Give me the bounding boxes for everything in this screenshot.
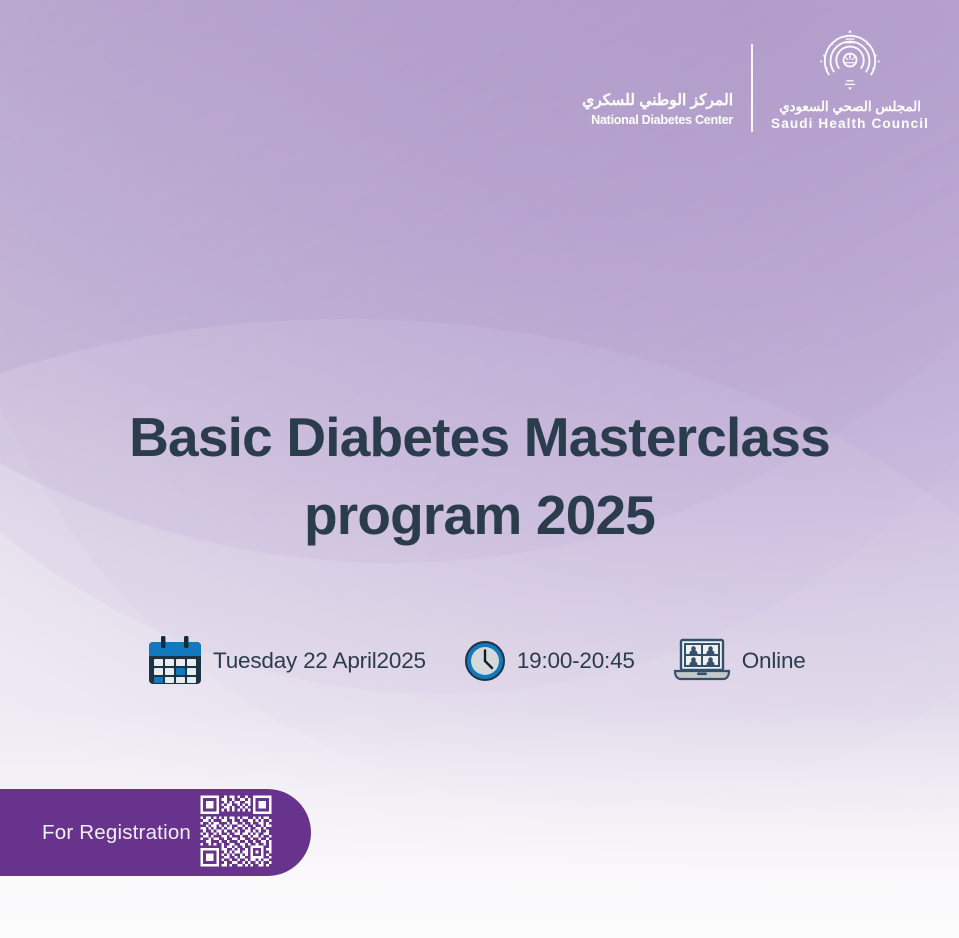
- registration-banner[interactable]: For Registration: [0, 789, 311, 876]
- event-mode-label: Online: [742, 648, 806, 674]
- calendar-icon: [148, 636, 202, 686]
- event-time-label: 19:00-20:45: [517, 648, 635, 674]
- logo-national-diabetes-center: المركز الوطني للسكري National Diabetes C…: [582, 27, 751, 131]
- page-title: Basic Diabetes Masterclass program 2025: [0, 398, 959, 554]
- registration-label: For Registration: [42, 821, 191, 845]
- logo-ndc-arabic-text: المركز الوطني للسكري: [582, 91, 733, 110]
- registration-qr-code[interactable]: [198, 793, 274, 869]
- event-date-label: Tuesday 22 April2025: [213, 648, 426, 674]
- saudi-health-council-emblem-icon: [813, 24, 887, 96]
- page-title-line-2: program 2025: [0, 476, 959, 554]
- event-poster: المركز الوطني للسكري National Diabetes C…: [0, 0, 959, 938]
- background-white-strip: [0, 880, 959, 938]
- header-logos: المركز الوطني للسكري National Diabetes C…: [582, 24, 929, 134]
- logo-ndc-english-text: National Diabetes Center: [591, 111, 733, 129]
- video-conference-icon: [673, 638, 731, 684]
- page-title-line-1: Basic Diabetes Masterclass: [0, 398, 959, 476]
- clock-icon: [464, 640, 506, 682]
- event-details-row: Tuesday 22 April2025 19:00-20:45: [148, 636, 806, 686]
- logo-saudi-health-council: المجلس الصحي السعودي Saudi Health Counci…: [753, 24, 929, 134]
- event-detail-mode: Online: [673, 638, 806, 684]
- event-detail-date: Tuesday 22 April2025: [148, 636, 426, 686]
- event-detail-time: 19:00-20:45: [464, 640, 635, 682]
- logo-shc-arabic-text: المجلس الصحي السعودي: [779, 98, 921, 115]
- logo-shc-english-text: Saudi Health Council: [771, 115, 929, 133]
